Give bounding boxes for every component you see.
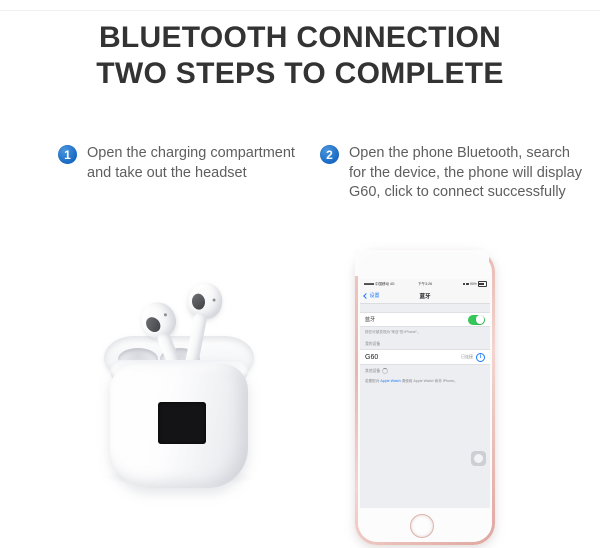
toggle-knob — [476, 315, 485, 324]
other-devices-section-header: 其他设备 — [360, 365, 490, 376]
nav-bar-title: 蓝牙 — [360, 292, 490, 300]
phone-screen: 中国移动 4G 下午3:26 90% 设置 蓝牙 — [360, 279, 490, 508]
home-button[interactable] — [410, 514, 434, 538]
bluetooth-status-icon — [466, 283, 468, 285]
pairing-note-prefix: 若要配对 — [365, 379, 380, 383]
bluetooth-row-label: 蓝牙 — [365, 316, 468, 323]
phone-mockup: 中国移动 4G 下午3:26 90% 设置 蓝牙 — [355, 250, 495, 545]
apple-watch-link[interactable]: Apple Watch — [380, 379, 400, 383]
phone-bottom-bezel — [358, 508, 492, 542]
ios-nav-bar: 设置 蓝牙 — [360, 289, 490, 304]
bluetooth-toggle-switch[interactable] — [468, 315, 485, 325]
step-badge-2: 2 — [320, 145, 339, 164]
info-icon[interactable]: i — [476, 353, 485, 362]
page-title: BLUETOOTH CONNECTION TWO STEPS TO COMPLE… — [0, 20, 600, 92]
step-badge-1: 1 — [58, 145, 77, 164]
step-item-2: 2 Open the phone Bluetooth, search for t… — [320, 144, 585, 203]
my-devices-section-header: 我的设备 — [360, 339, 490, 349]
bluetooth-discoverable-note: 现在可被发现为"来自"的 iPhone"。 — [360, 327, 490, 339]
alarm-icon — [463, 283, 465, 285]
step-text-2: Open the phone Bluetooth, search for the… — [349, 144, 585, 203]
ios-status-bar: 中国移动 4G 下午3:26 90% — [360, 279, 490, 289]
loading-spinner-icon — [382, 368, 388, 374]
battery-percent-label: 90% — [470, 282, 477, 286]
step-item-1: 1 Open the charging compartment and take… — [58, 144, 298, 183]
section-spacer-top — [360, 303, 490, 312]
page-title-line-1: BLUETOOTH CONNECTION — [0, 20, 600, 56]
phone-body: 中国移动 4G 下午3:26 90% 设置 蓝牙 — [358, 253, 492, 542]
assistive-touch-button[interactable] — [471, 451, 486, 466]
steps-container: 1 Open the charging compartment and take… — [0, 144, 600, 224]
step-text-1: Open the charging compartment and take o… — [87, 144, 298, 183]
my-devices-label: 我的设备 — [365, 342, 380, 347]
top-divider — [0, 10, 600, 11]
device-connection-status: 已连接 — [461, 354, 473, 360]
assistive-touch-ring-icon — [474, 454, 483, 463]
device-row-g60[interactable]: G60 已连接 i — [360, 349, 490, 365]
pairing-note-suffix: 请使用 Apple Watch 而非 iPhone。 — [401, 379, 458, 383]
charging-case-display — [158, 402, 206, 444]
device-name-label: G60 — [365, 354, 461, 361]
other-devices-label: 其他设备 — [365, 369, 380, 374]
battery-icon — [478, 281, 487, 286]
status-bar-right: 90% — [463, 281, 487, 286]
earbuds-product-image — [62, 262, 302, 512]
page-title-line-2: TWO STEPS TO COMPLETE — [0, 56, 600, 92]
apple-watch-pairing-note: 若要配对 Apple Watch 请使用 Apple Watch 而非 iPho… — [360, 376, 490, 388]
bluetooth-toggle-row[interactable]: 蓝牙 — [360, 312, 490, 327]
